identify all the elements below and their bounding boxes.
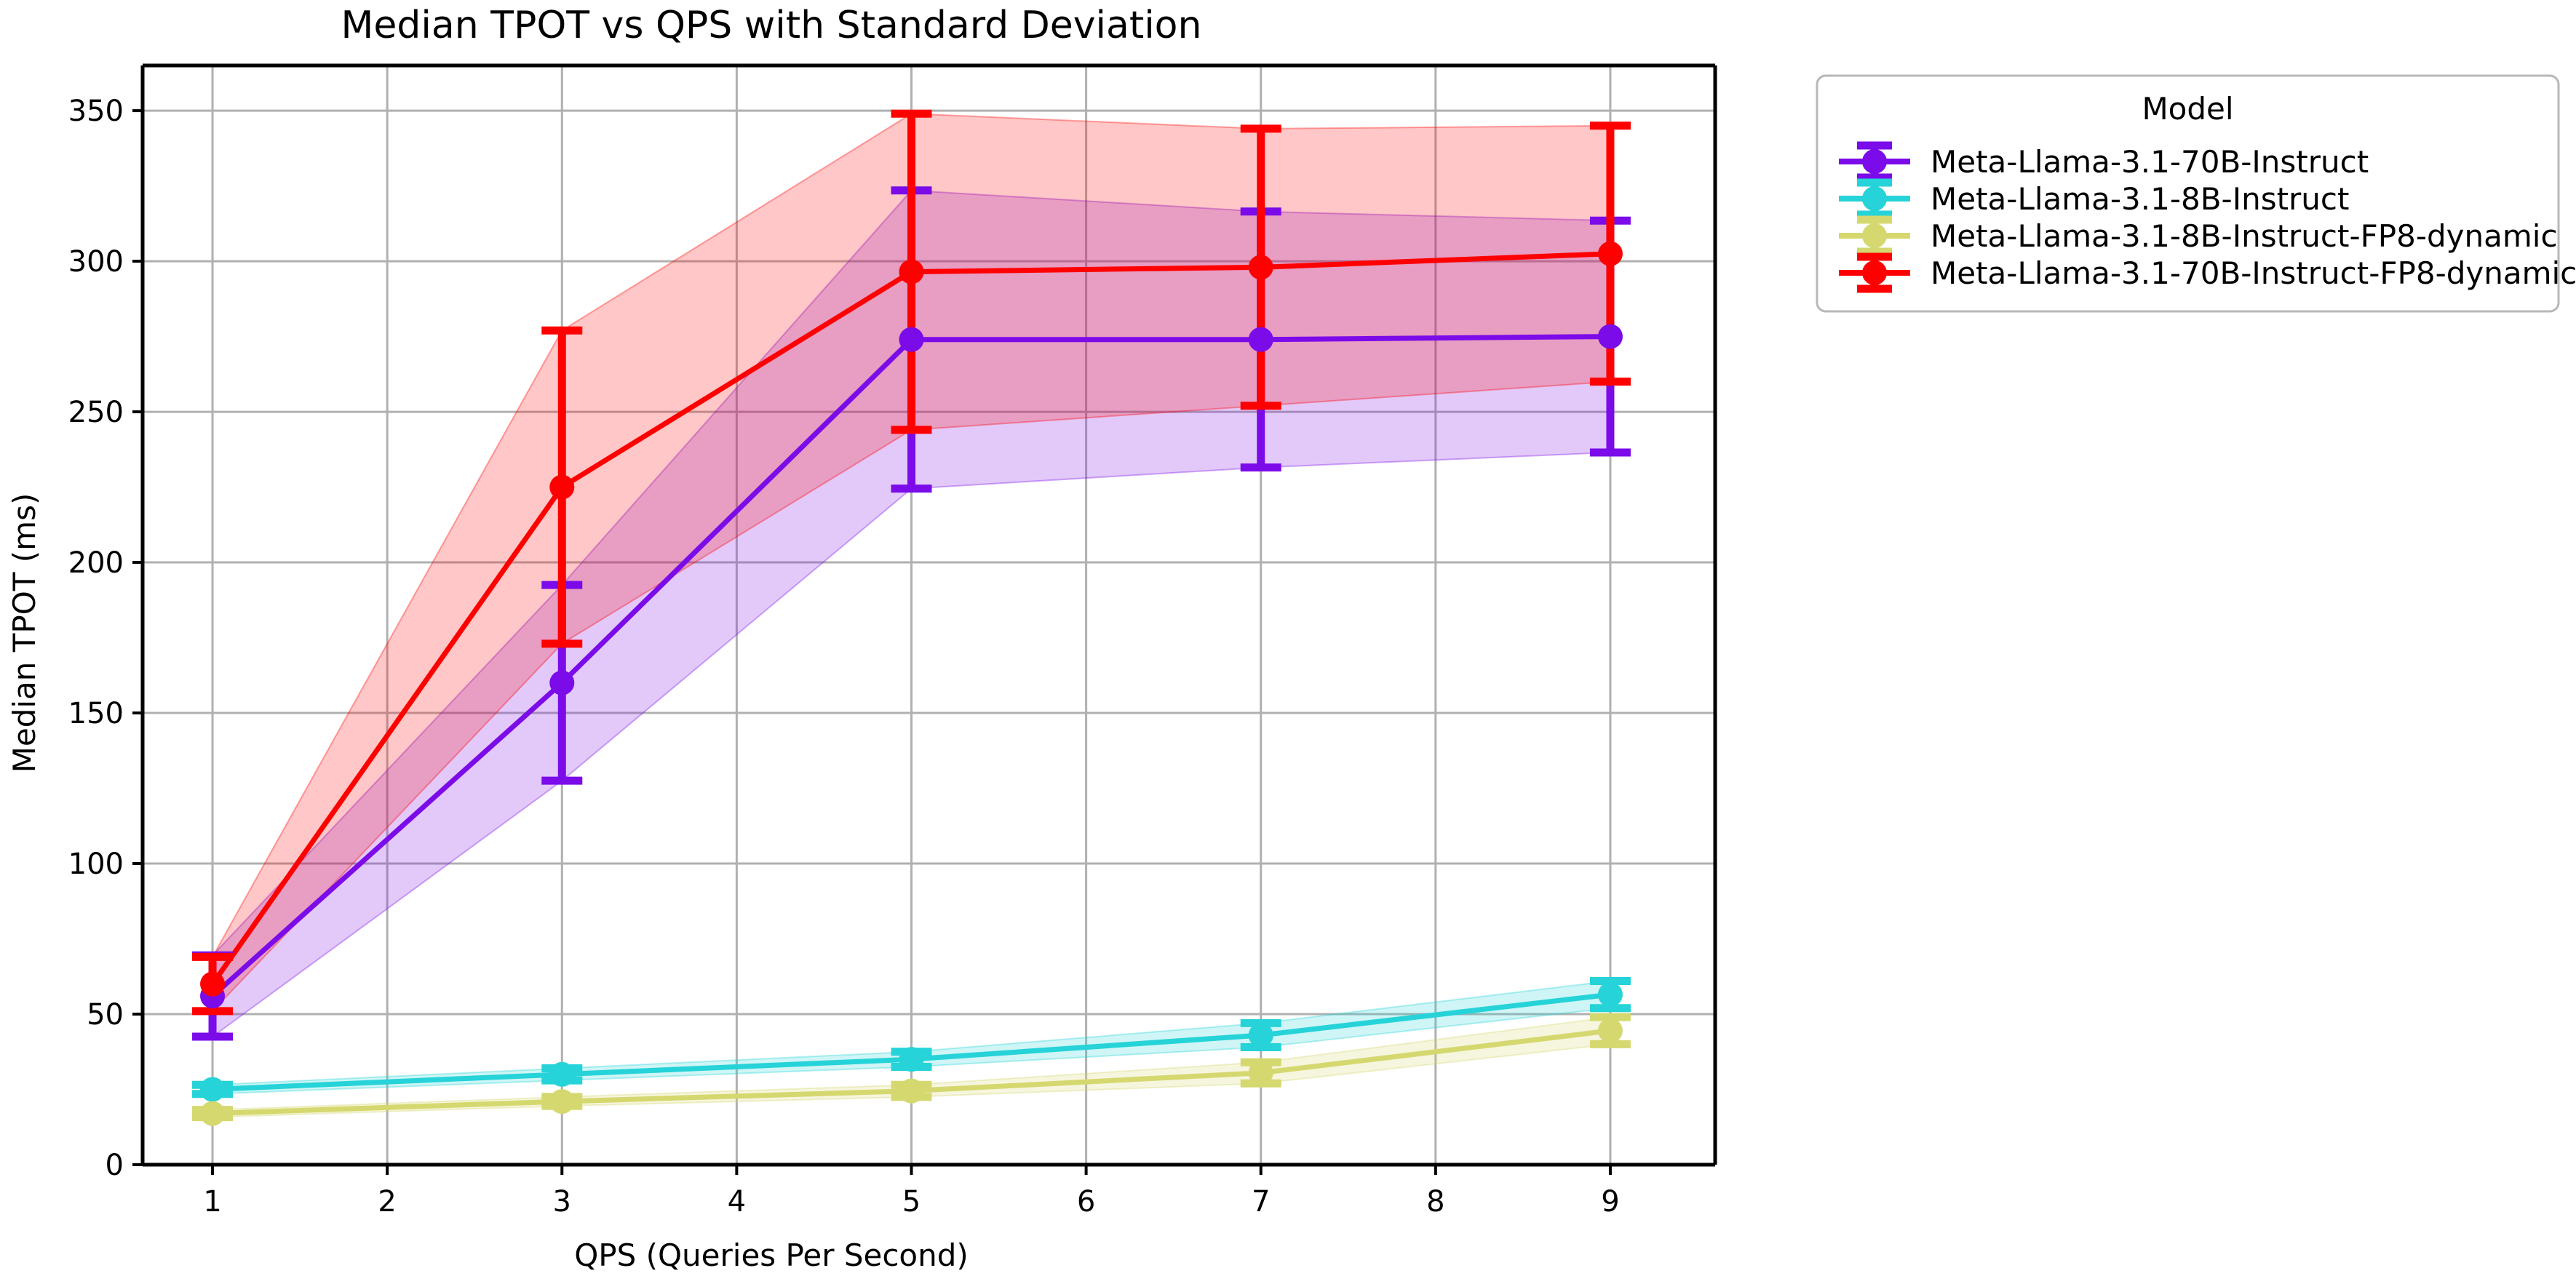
legend-title: Model xyxy=(2142,91,2233,127)
legend-entry-label[interactable]: Meta-Llama-3.1-70B-Instruct-FP8-dynamic xyxy=(1931,255,2576,291)
x-tick-label: 1 xyxy=(203,1185,221,1219)
x-axis-label: QPS (Queries Per Second) xyxy=(574,1237,969,1273)
x-tick-label: 3 xyxy=(553,1185,571,1219)
data-point-marker[interactable] xyxy=(549,671,574,695)
data-point-marker[interactable] xyxy=(1598,982,1623,1007)
x-tick-label: 6 xyxy=(1077,1185,1095,1219)
legend: ModelMeta-Llama-3.1-70B-InstructMeta-Lla… xyxy=(1817,76,2576,311)
data-point-marker[interactable] xyxy=(200,972,225,997)
legend-swatch-marker xyxy=(1862,260,1887,285)
plot-area: 050100150200250300350123456789 xyxy=(68,65,1715,1219)
x-tick-label: 7 xyxy=(1252,1185,1270,1219)
legend-entry-label[interactable]: Meta-Llama-3.1-8B-Instruct xyxy=(1931,181,2350,217)
y-tick-label: 250 xyxy=(68,396,124,429)
data-point-marker[interactable] xyxy=(1598,1018,1623,1043)
legend-swatch-marker xyxy=(1862,186,1887,211)
data-point-marker[interactable] xyxy=(899,1079,923,1104)
data-point-marker[interactable] xyxy=(899,1047,923,1072)
chart-title: Median TPOT vs QPS with Standard Deviati… xyxy=(341,4,1202,47)
x-tick-label: 8 xyxy=(1426,1185,1444,1219)
legend-entry-label[interactable]: Meta-Llama-3.1-8B-Instruct-FP8-dynamic xyxy=(1931,218,2558,254)
legend-swatch-marker xyxy=(1862,149,1887,174)
x-tick-label: 5 xyxy=(902,1185,921,1219)
data-point-marker[interactable] xyxy=(1598,324,1623,349)
data-point-marker[interactable] xyxy=(899,327,923,352)
x-tick-label: 2 xyxy=(378,1185,396,1219)
y-tick-label: 150 xyxy=(68,697,124,730)
data-point-marker[interactable] xyxy=(200,1077,225,1102)
legend-swatch-marker xyxy=(1862,223,1887,248)
data-point-marker[interactable] xyxy=(899,260,923,284)
y-tick-label: 0 xyxy=(106,1149,124,1182)
data-point-marker[interactable] xyxy=(200,1101,225,1126)
data-point-marker[interactable] xyxy=(1249,255,1273,279)
data-point-marker[interactable] xyxy=(549,1089,574,1114)
legend-entry-label[interactable]: Meta-Llama-3.1-70B-Instruct xyxy=(1931,144,2369,180)
y-tick-label: 350 xyxy=(68,95,124,128)
data-point-marker[interactable] xyxy=(1249,1061,1273,1085)
data-point-marker[interactable] xyxy=(549,475,574,500)
y-tick-label: 200 xyxy=(68,546,124,580)
data-point-marker[interactable] xyxy=(1249,1023,1273,1048)
y-axis-label: Median TPOT (ms) xyxy=(7,493,42,773)
x-tick-label: 9 xyxy=(1601,1185,1619,1219)
figure-canvas: 050100150200250300350123456789 Median TP… xyxy=(0,0,2576,1284)
data-point-marker[interactable] xyxy=(549,1062,574,1087)
chart-svg: 050100150200250300350123456789 Median TP… xyxy=(0,0,2576,1284)
x-tick-label: 4 xyxy=(728,1185,746,1219)
data-point-marker[interactable] xyxy=(1249,327,1273,352)
y-tick-label: 50 xyxy=(87,998,124,1032)
data-point-marker[interactable] xyxy=(1598,242,1623,266)
y-tick-label: 100 xyxy=(68,848,124,881)
y-tick-label: 300 xyxy=(68,245,124,279)
